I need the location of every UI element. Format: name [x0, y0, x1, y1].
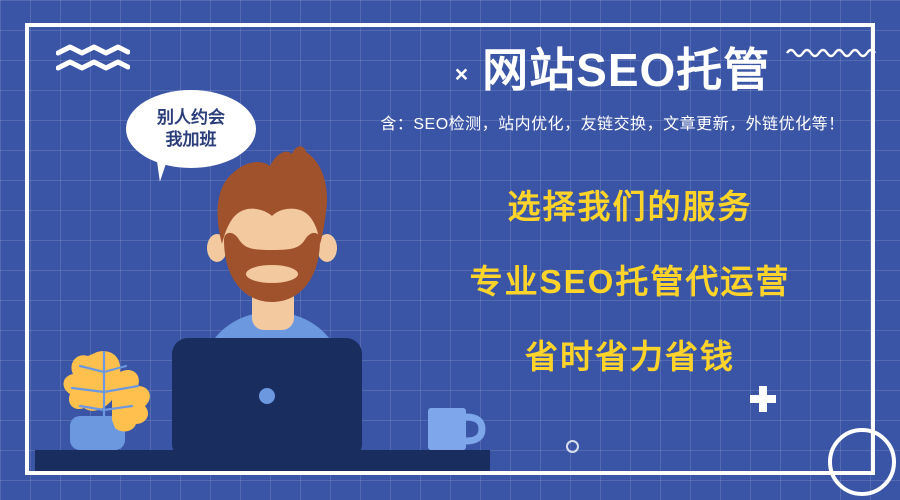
headline-subtitle: 含：SEO检测，站内优化，友链交换，文章更新，外链优化等！	[340, 110, 885, 134]
x-mark-icon: ×	[455, 63, 468, 86]
headline-block: × 网站SEO托管 含：SEO检测，站内优化，友链交换，文章更新，外链优化等！	[340, 44, 885, 134]
slogan-list: 选择我们的服务 专业SEO托管代运营 省时省力省钱	[430, 190, 830, 373]
page-title: 网站SEO托管	[482, 44, 770, 97]
slogan-line-3: 省时省力省钱	[430, 340, 830, 373]
slogan-line-2: 专业SEO托管代运营	[430, 265, 830, 298]
corner-circle-icon	[828, 428, 896, 496]
speech-bubble-line-1: 别人约会	[157, 107, 225, 129]
circle-outline-icon	[566, 440, 579, 453]
wave-lines-icon	[56, 44, 130, 74]
speech-bubble: 别人约会 我加班	[126, 90, 256, 168]
speech-bubble-line-2: 我加班	[166, 129, 217, 151]
slogan-line-1: 选择我们的服务	[430, 190, 830, 223]
seo-promo-banner: 别人约会 我加班 × 网站SEO托管 含：SEO检测，站内优化，友链交换，文章更…	[0, 0, 900, 500]
title-row: × 网站SEO托管	[340, 44, 885, 97]
plus-icon	[750, 386, 776, 412]
